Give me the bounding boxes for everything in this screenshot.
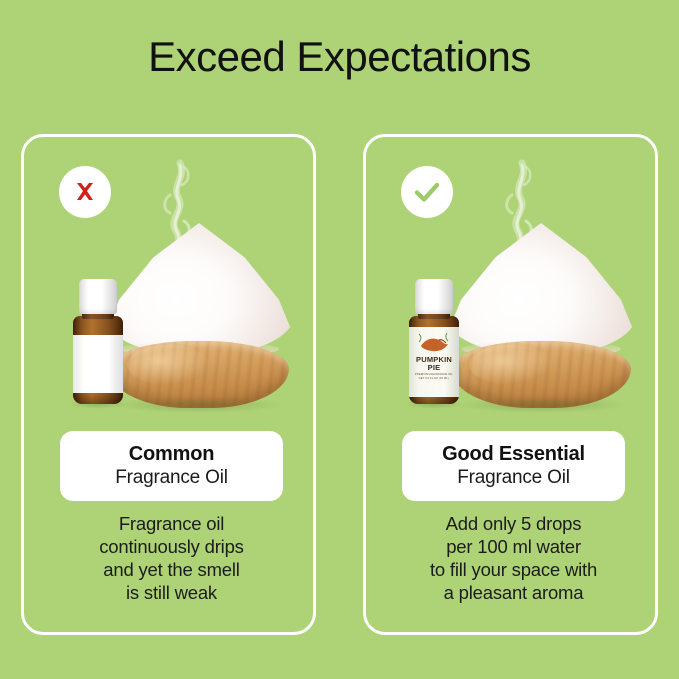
card-description: Add only 5 drops per 100 ml water to fil… xyxy=(378,512,649,604)
page-title: Exceed Expectations xyxy=(0,34,679,80)
description-line: is still weak xyxy=(36,581,307,604)
product-name: Good Essential xyxy=(442,442,585,466)
diffuser-shadow xyxy=(114,397,284,413)
bottle-label-blank xyxy=(73,335,123,393)
product-name: Common xyxy=(129,442,214,466)
cross-mark-badge xyxy=(59,166,111,218)
description-line: a pleasant aroma xyxy=(378,581,649,604)
description-line: per 100 ml water xyxy=(378,535,649,558)
product-name-plate: Common Fragrance Oil xyxy=(60,431,283,501)
bottle-cap xyxy=(79,279,117,314)
product-type: Fragrance Oil xyxy=(457,466,570,490)
fragrance-oil-bottle xyxy=(72,279,124,404)
check-mark-icon xyxy=(410,175,444,209)
diffuser-image xyxy=(104,223,294,408)
diffuser-image xyxy=(446,223,636,408)
card-description: Fragrance oil continuously drips and yet… xyxy=(36,512,307,604)
description-line: continuously drips xyxy=(36,535,307,558)
diffuser-cone xyxy=(104,223,294,355)
bottle-label-volume: NET 0.5 FL OZ (15 ML) xyxy=(419,376,449,380)
description-line: Add only 5 drops xyxy=(378,512,649,535)
product-type: Fragrance Oil xyxy=(115,466,228,490)
comparison-card-common: Common Fragrance Oil Fragrance oil conti… xyxy=(21,134,316,635)
product-name-plate: Good Essential Fragrance Oil xyxy=(402,431,625,501)
description-line: and yet the smell xyxy=(36,558,307,581)
comparison-infographic: Exceed Expectations xyxy=(0,0,679,679)
pumpkin-pie-oil-bottle: PUMPKIN PIE PREMIUM FRAGRANCE OIL NET 0.… xyxy=(408,279,460,404)
bottle-cap xyxy=(415,279,453,314)
check-mark-badge xyxy=(401,166,453,218)
diffuser-shadow xyxy=(456,397,626,413)
bottle-label-title-line-2: PIE xyxy=(428,364,441,372)
description-line: to fill your space with xyxy=(378,558,649,581)
comparison-card-good-essential: PUMPKIN PIE PREMIUM FRAGRANCE OIL NET 0.… xyxy=(363,134,658,635)
diffuser-cone xyxy=(446,223,636,355)
bottle-label: PUMPKIN PIE PREMIUM FRAGRANCE OIL NET 0.… xyxy=(409,327,459,397)
cross-mark-icon xyxy=(70,177,100,207)
description-line: Fragrance oil xyxy=(36,512,307,535)
pumpkin-illustration-icon xyxy=(417,330,451,356)
